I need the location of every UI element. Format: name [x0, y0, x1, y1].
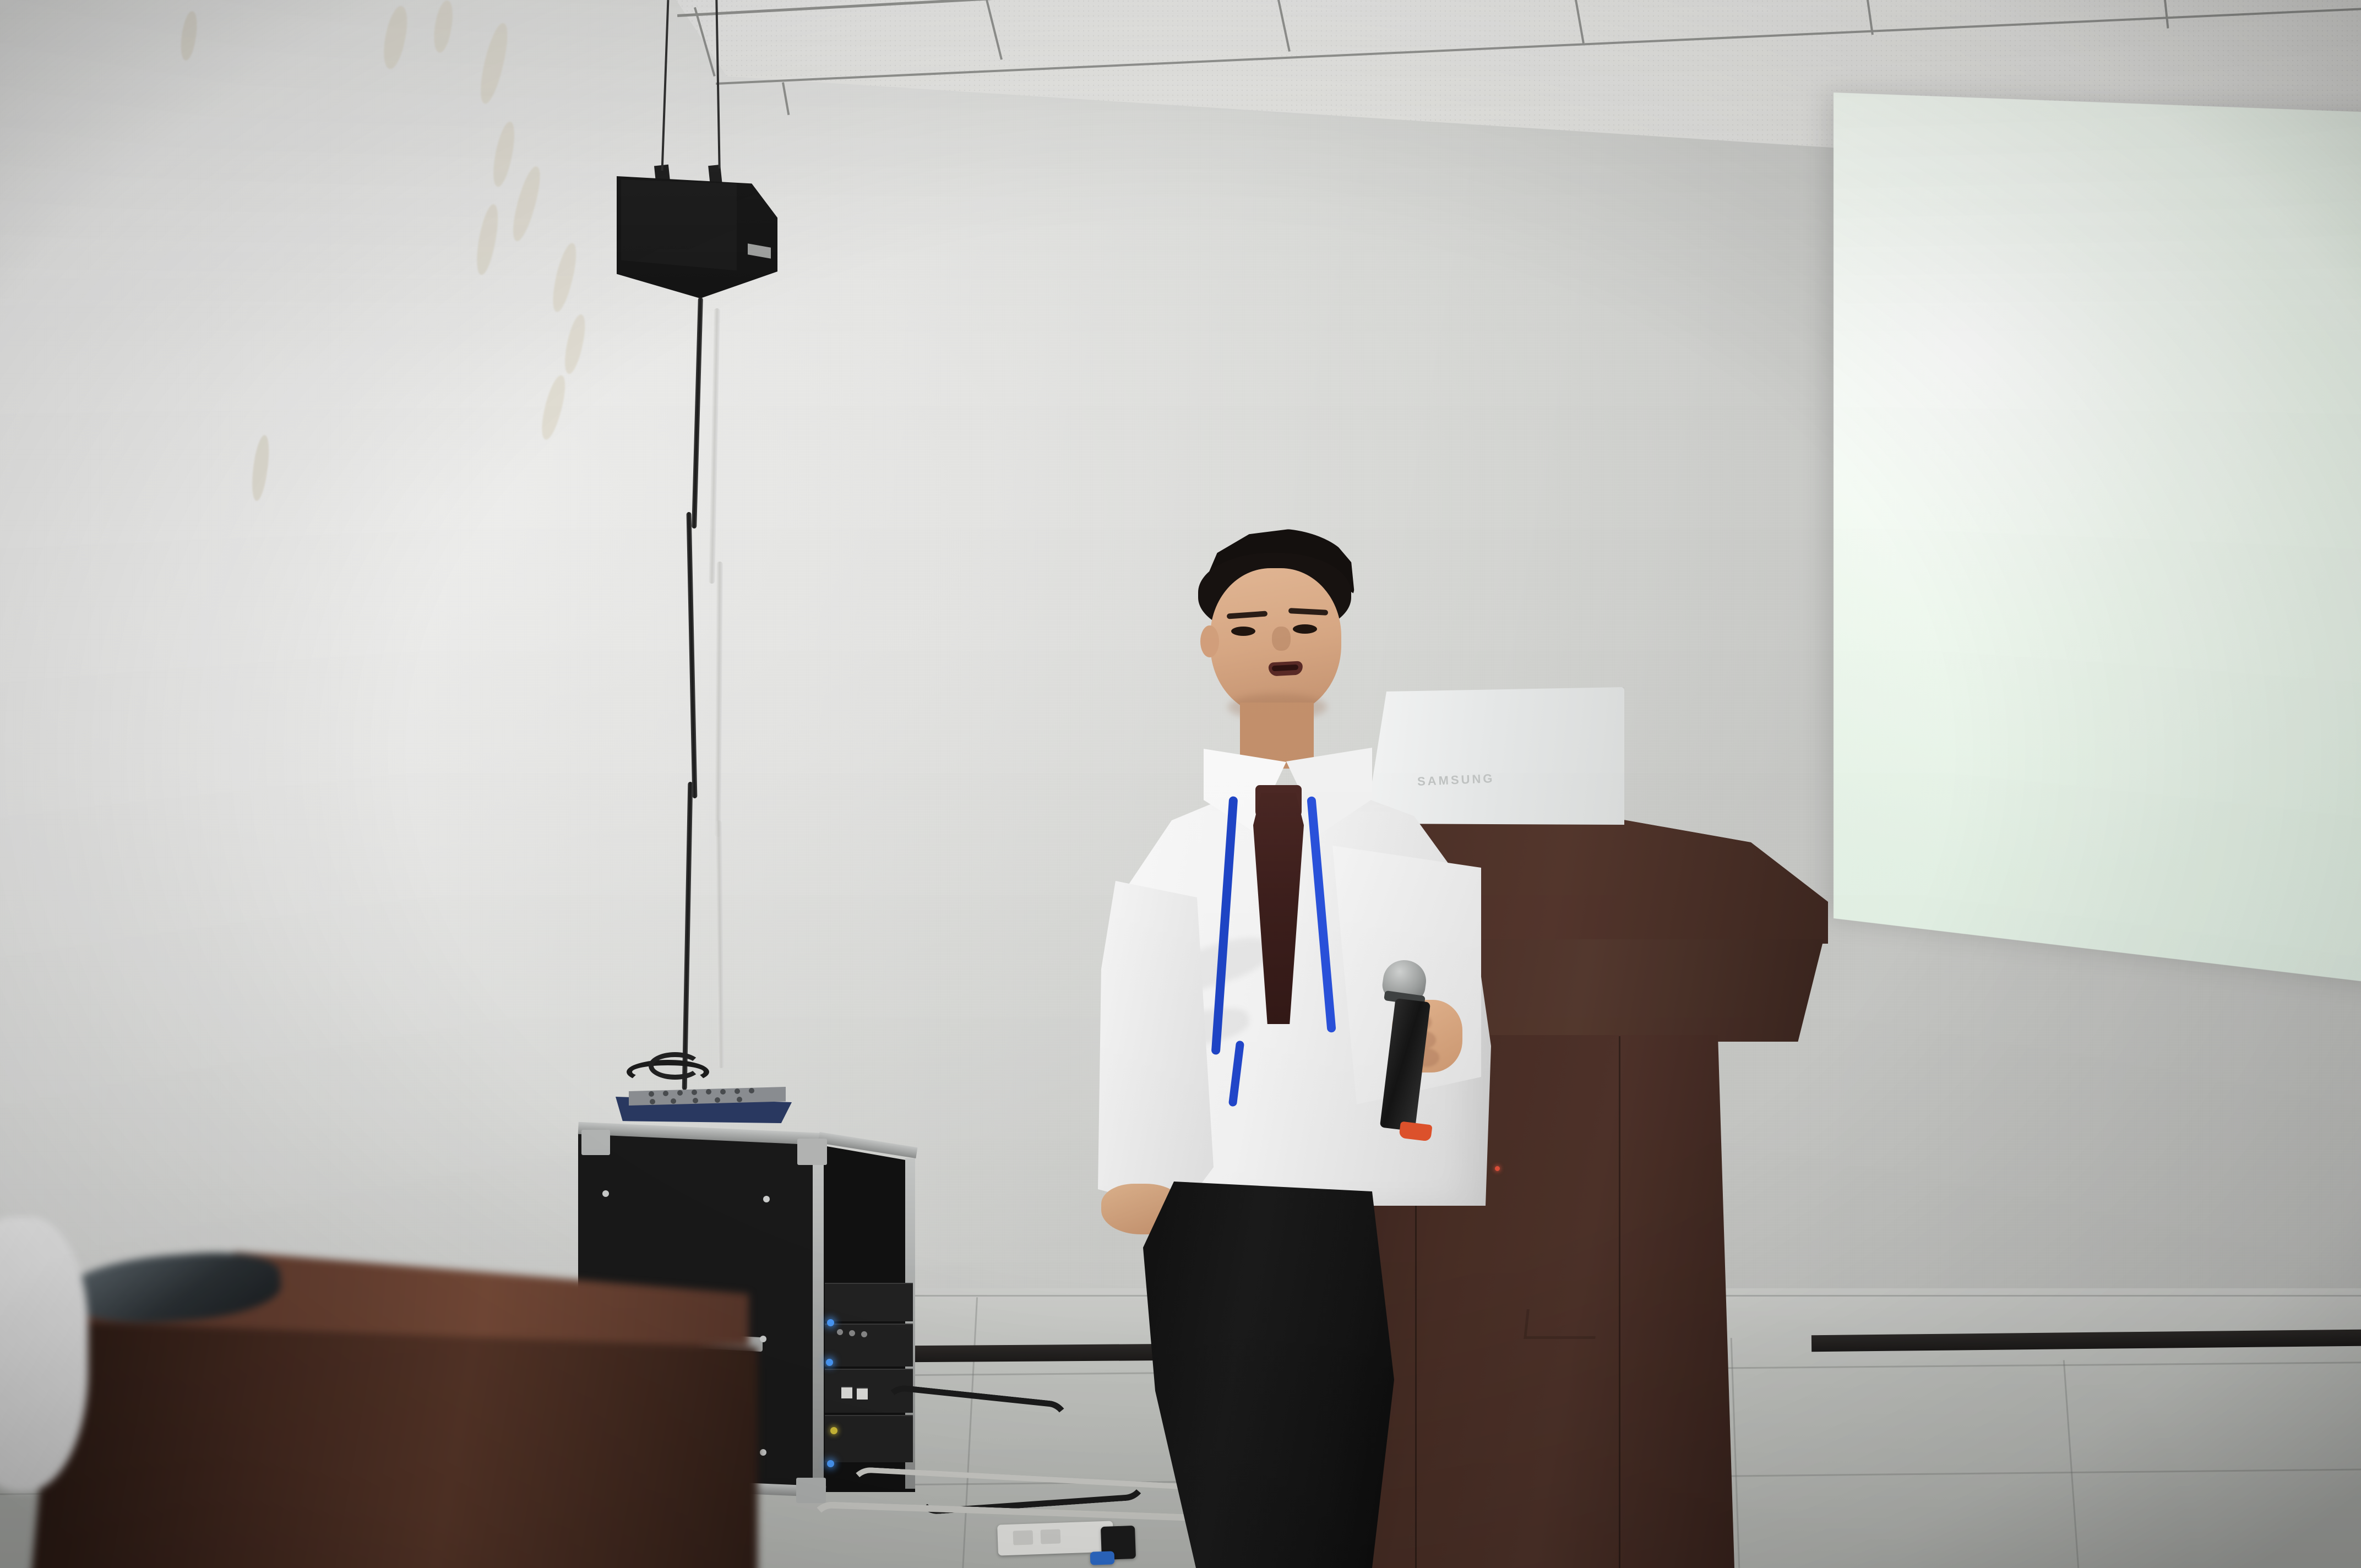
rack-button[interactable] — [841, 1386, 852, 1398]
presenter — [1090, 529, 1520, 1568]
rack-power-led — [827, 1460, 834, 1467]
leaf-decoration-icon — [1873, 683, 1958, 753]
company-swirl-logo-icon — [1859, 107, 1919, 170]
case-corner-guard — [581, 1130, 610, 1155]
mixer-knob[interactable] — [693, 1098, 698, 1103]
rack-knob[interactable] — [861, 1331, 867, 1337]
mixer-knob[interactable] — [671, 1098, 676, 1104]
case-screw — [763, 1196, 770, 1202]
audio-mixer[interactable] — [616, 1084, 792, 1123]
mixer-knob[interactable] — [677, 1090, 683, 1096]
slide-heading: 2.两票制部分 — [1866, 192, 2064, 249]
rack-status-led — [830, 1427, 837, 1434]
mixer-knob[interactable] — [650, 1099, 655, 1104]
presenter-eye — [1293, 624, 1317, 634]
slide-table-header-cell-2: 未 — [2280, 268, 2361, 344]
conference-room-photo: 未来药业 2.两票制部分 已公示（百正） 未 黑龙江、北京、河南、 重庆、内蒙、… — [0, 0, 2361, 1568]
rack-power-led — [827, 1319, 834, 1326]
slide-content: 未来药业 2.两票制部分 已公示（百正） 未 黑龙江、北京、河南、 重庆、内蒙、… — [1834, 92, 2361, 987]
presenter-nose — [1272, 627, 1291, 651]
slide-table-body: 黑龙江、北京、河南、 重庆、内蒙、吉林、 辽宁、湖南、江苏、 天津、安徽、甘肃、… — [1989, 319, 2361, 769]
mixer-knob[interactable] — [749, 1088, 754, 1093]
presenter-left-arm — [1098, 881, 1214, 1211]
mixer-knob[interactable] — [649, 1091, 654, 1097]
slide-brand-name: 未来药业 — [1927, 121, 2048, 167]
mixer-knob[interactable] — [737, 1097, 742, 1102]
presenter-trousers — [1135, 1182, 1394, 1568]
slide-table: 已公示（百正） 未 黑龙江、北京、河南、 重庆、内蒙、吉林、 辽宁、湖南、江苏、… — [1989, 253, 2361, 769]
projection-screen: 未来药业 2.两票制部分 已公示（百正） 未 黑龙江、北京、河南、 重庆、内蒙、… — [1834, 92, 2361, 987]
case-screw — [602, 1190, 609, 1197]
foreground-table — [0, 1228, 804, 1568]
slide-header-rule — [2098, 165, 2361, 185]
podium-engraving — [1524, 1309, 1598, 1339]
rack-knob[interactable] — [849, 1330, 855, 1336]
rack-knob[interactable] — [837, 1329, 843, 1335]
slide-tagline: 打造敢打敢拼、 — [2102, 777, 2349, 851]
mixer-knob[interactable] — [706, 1089, 711, 1095]
rack-button[interactable] — [857, 1387, 868, 1400]
slide-table-cell-column-2: 湖北 山西 新疆 — [2280, 335, 2361, 769]
presenter-ear — [1200, 625, 1219, 657]
case-edge-trim — [813, 1145, 824, 1498]
podium-seam — [1619, 1036, 1620, 1568]
rack-power-led — [826, 1359, 833, 1366]
presenter-eye — [1231, 627, 1255, 636]
mixer-knob[interactable] — [720, 1089, 726, 1095]
mixer-knob[interactable] — [735, 1088, 740, 1094]
power-strip-socket[interactable] — [1041, 1529, 1061, 1544]
mixer-knob[interactable] — [692, 1090, 697, 1095]
power-strip-socket[interactable] — [1013, 1530, 1033, 1545]
wall-speaker — [617, 165, 782, 319]
mixer-knob[interactable] — [663, 1091, 668, 1096]
rack-unit — [825, 1283, 913, 1321]
mixer-knob[interactable] — [715, 1097, 720, 1103]
case-corner-guard — [797, 1139, 827, 1165]
slide-table-cell-column-1: 黑龙江、北京、河南、 重庆、内蒙、吉林、 辽宁、湖南、江苏、 天津、安徽、甘肃、… — [1989, 319, 2280, 755]
foreground-table-front — [31, 1321, 758, 1568]
table-line: 新疆 — [2296, 409, 2361, 449]
